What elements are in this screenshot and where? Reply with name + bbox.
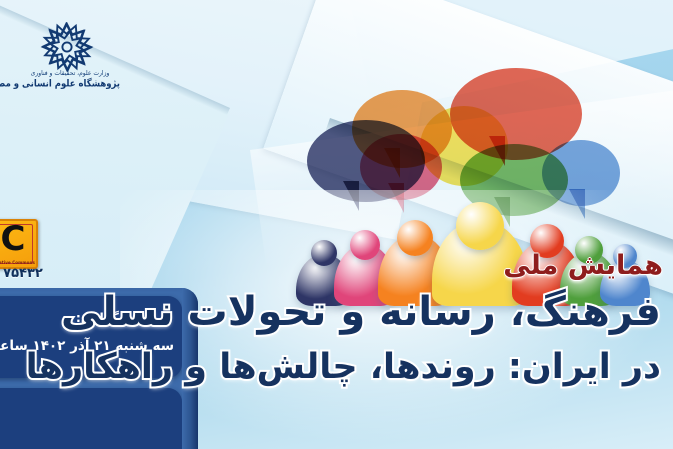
conference-title-line1: فرهنگ، رسانه و تحولات نسلی — [61, 292, 661, 332]
logo-ministry-line: وزارت علوم، تحقیقات و فناوری — [20, 70, 120, 78]
logo-institute-line: پژوهشگاه علوم انسانی و مطالعات فرهنگی — [20, 78, 120, 90]
person-pink-head — [350, 230, 380, 260]
badge-sublabel: Creative Commons — [0, 260, 36, 265]
person-orange-head — [397, 220, 433, 256]
institution-logo: وزارت علوم، تحقیقات و فناوری پژوهشگاه عل… — [14, 22, 120, 100]
badge-letter: C — [0, 222, 36, 256]
badge-registration-number: ۷۵۴۳۲ — [0, 266, 54, 281]
event-secondary-card — [0, 388, 182, 449]
conference-poster: وزارت علوم، تحقیقات و فناوری پژوهشگاه عل… — [0, 0, 673, 449]
logo-caption: وزارت علوم، تحقیقات و فناوری پژوهشگاه عل… — [20, 70, 120, 89]
conference-kicker: همایش ملی — [503, 252, 663, 279]
islamic-star-icon — [14, 22, 120, 74]
person-yellow-head — [456, 202, 504, 250]
certification-badge: C Creative Commons — [0, 219, 38, 269]
conference-title-line2: در ایران: روندها، چالش‌ها و راهکارها — [26, 350, 661, 385]
